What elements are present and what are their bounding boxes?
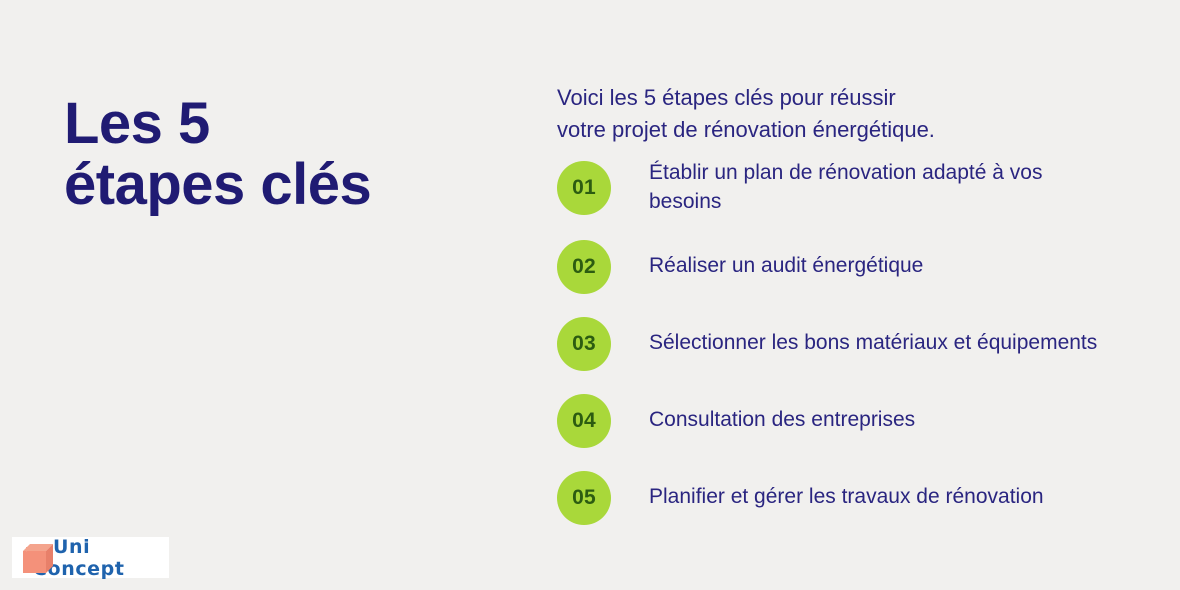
step-number-badge: 04 xyxy=(557,394,611,448)
intro-paragraph: Voici les 5 étapes clés pour réussir vot… xyxy=(557,82,1117,146)
step-label: Planifier et gérer les travaux de rénova… xyxy=(649,483,1044,512)
step-number-badge: 01 xyxy=(557,161,611,215)
step-number-badge: 02 xyxy=(557,240,611,294)
step-label: Réaliser un audit énergétique xyxy=(649,252,923,281)
step-label: Établir un plan de rénovation adapté à v… xyxy=(649,159,1099,217)
step-label: Sélectionner les bons matériaux et équip… xyxy=(649,329,1097,358)
steps-list: 01 Établir un plan de rénovation adapté … xyxy=(557,159,1137,525)
list-item: 05 Planifier et gérer les travaux de rén… xyxy=(557,471,1137,525)
slide: Les 5 étapes clés Voici les 5 étapes clé… xyxy=(0,0,1180,590)
step-label: Consultation des entreprises xyxy=(649,406,915,435)
step-number-badge: 03 xyxy=(557,317,611,371)
logo: Uni Concept xyxy=(12,537,169,578)
page-title: Les 5 étapes clés xyxy=(64,93,514,216)
list-item: 03 Sélectionner les bons matériaux et éq… xyxy=(557,317,1137,371)
list-item: 04 Consultation des entreprises xyxy=(557,394,1137,448)
cube-icon xyxy=(20,543,54,573)
list-item: 02 Réaliser un audit énergétique xyxy=(557,240,1137,294)
list-item: 01 Établir un plan de rénovation adapté … xyxy=(557,159,1137,217)
step-number-badge: 05 xyxy=(557,471,611,525)
